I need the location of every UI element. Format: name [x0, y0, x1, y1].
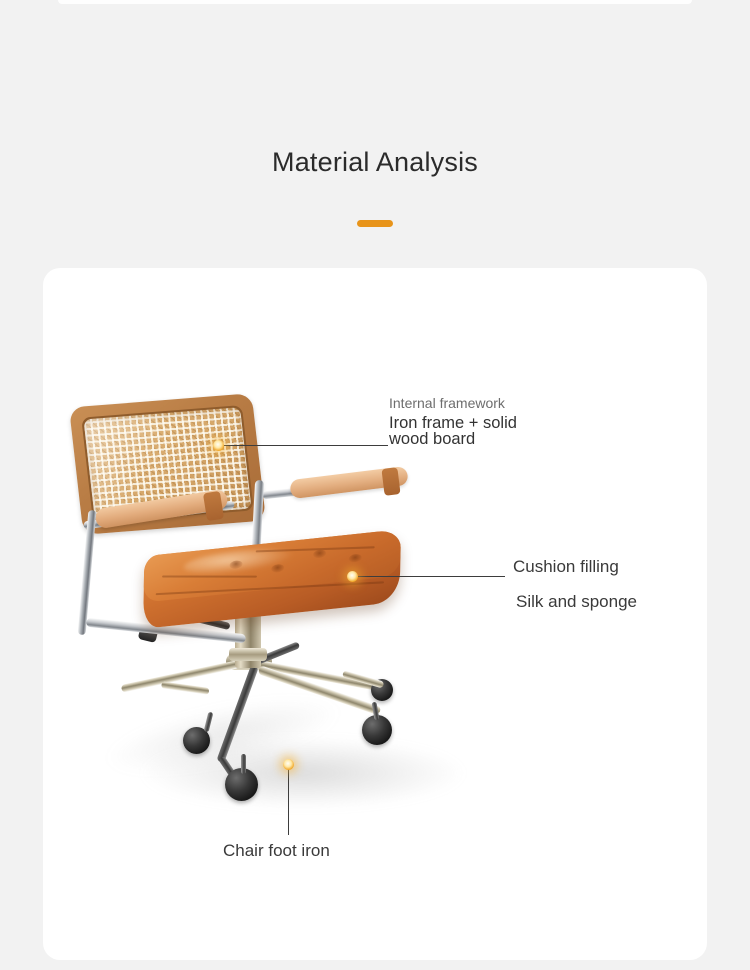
marker-chair-foot-iron[interactable]: [283, 759, 294, 770]
callout-chair-foot-iron-label: Chair foot iron: [223, 841, 330, 861]
seat-seam-1: [162, 575, 257, 577]
leader-line-cushion-filling: [357, 576, 505, 577]
title-accent-divider: [357, 220, 393, 227]
leader-line-internal-framework: [223, 445, 388, 446]
marker-internal-framework[interactable]: [213, 440, 224, 451]
section-header: Material Analysis: [0, 146, 750, 227]
leader-line-chair-foot-iron: [288, 769, 289, 835]
callout-internal-framework: Internal framework Iron frame + solid wo…: [389, 396, 517, 447]
callout-cushion-filling-label: Cushion filling: [513, 557, 637, 577]
frame-post-front-left: [78, 510, 97, 635]
gas-lift-ring: [229, 648, 267, 661]
armrest-strap-right: [381, 467, 400, 496]
callout-internal-framework-value-line1: Iron frame + solid: [389, 415, 517, 431]
material-analysis-card: Internal framework Iron frame + solid wo…: [43, 268, 707, 960]
callout-internal-framework-label: Internal framework: [389, 396, 517, 411]
previous-section-card-edge: [58, 0, 692, 4]
marker-cushion-filling[interactable]: [347, 571, 358, 582]
callout-cushion-filling: Cushion filling Silk and sponge: [513, 557, 637, 612]
base-leg-left-far-lower: [161, 681, 210, 695]
seat-cushion: [143, 529, 401, 628]
callout-cushion-filling-value: Silk and sponge: [516, 592, 637, 612]
chair-illustration: [43, 268, 707, 960]
callout-internal-framework-value-line2: wood board: [389, 431, 517, 447]
page-title: Material Analysis: [0, 146, 750, 180]
callout-chair-foot-iron: Chair foot iron: [223, 841, 330, 861]
caster-stem-front-near: [241, 754, 246, 774]
